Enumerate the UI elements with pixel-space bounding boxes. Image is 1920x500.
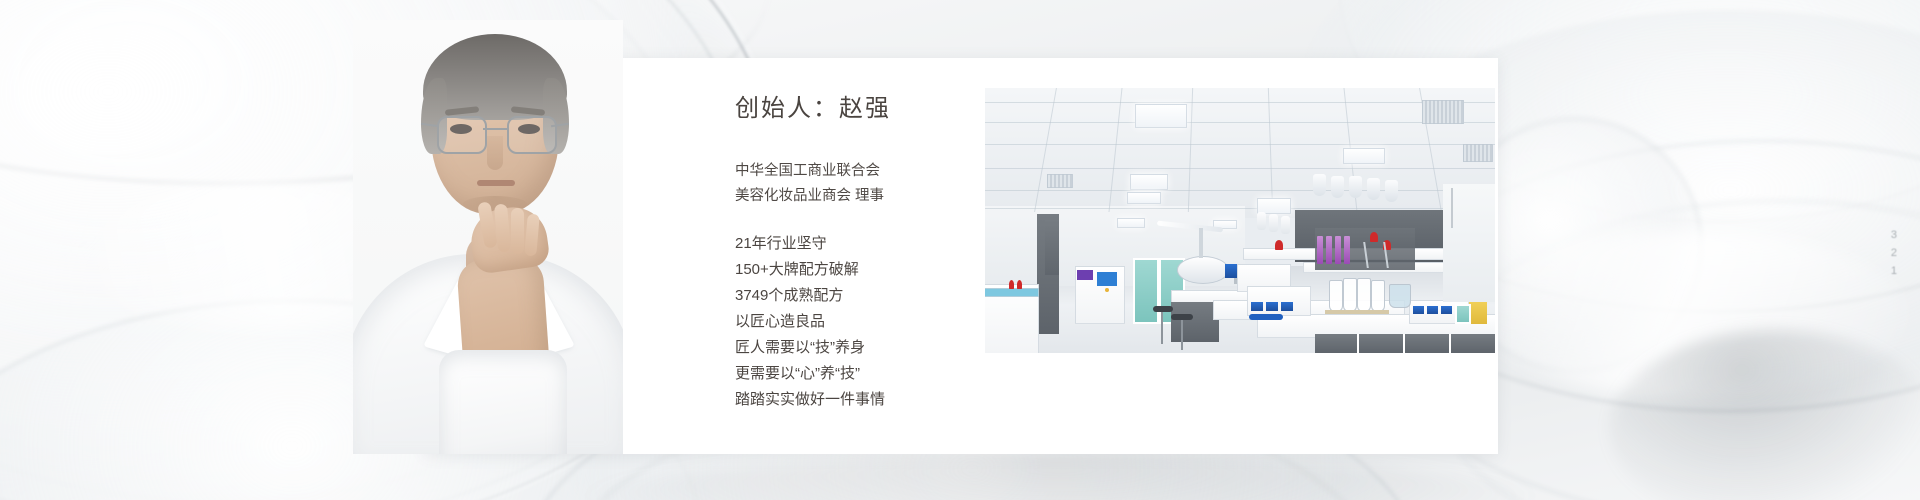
lab-pipette-bulb — [1275, 240, 1283, 250]
lab-test-tube — [1317, 236, 1323, 264]
lab-instrument — [1247, 286, 1311, 316]
lab-ceiling-light — [1343, 148, 1385, 164]
lab-small-container — [1455, 304, 1471, 324]
achievement-line: 3749个成熟配方 — [735, 283, 975, 309]
portrait-finger — [511, 208, 524, 254]
achievement-line: 21年行业坚守 — [735, 231, 975, 257]
lab-stool-leg — [1161, 312, 1163, 344]
founder-text-block: 创始人：赵强 中华全国工商业联合会 美容化妆品业商会 理事 21年行业坚守 15… — [735, 88, 975, 413]
lab-instrument-panel — [1413, 306, 1424, 314]
lab-left-cabinet-top — [985, 288, 1039, 297]
portrait-nose — [487, 136, 503, 170]
achievement-line: 更需要以“心”养“技” — [735, 361, 975, 387]
lab-instrument-panel — [1266, 302, 1278, 311]
lab-inverted-bottle — [1367, 178, 1380, 200]
lab-instrument-panel — [1441, 306, 1452, 314]
portrait-glasses-right-lens — [507, 116, 557, 154]
lab-instrument-panel — [1251, 302, 1263, 311]
lab-reagent-bottle — [1017, 280, 1022, 289]
lab-ceiling-light — [1135, 104, 1187, 128]
lab-wall-cabinet — [1045, 220, 1059, 275]
lab-analyzer-indicator — [1105, 288, 1109, 292]
laboratory-interior-photo — [985, 88, 1495, 353]
founder-title: 创始人：赵强 — [735, 88, 975, 123]
lab-inverted-bottle — [1331, 176, 1344, 198]
organization-line: 中华全国工商业联合会 — [735, 159, 975, 184]
portrait-glasses-bridge — [483, 128, 507, 130]
lab-test-tube — [1344, 236, 1350, 264]
lab-rack-base — [1325, 310, 1389, 314]
lab-supply-box — [1469, 300, 1487, 324]
lab-ceiling-light — [1127, 192, 1161, 204]
lab-overhead-lamp — [1177, 256, 1229, 284]
lab-analyzer-screen — [1077, 270, 1093, 280]
lab-analyzer-screen — [1097, 272, 1117, 286]
lab-ceiling-light — [1117, 218, 1145, 228]
lab-instrument-bar — [1249, 314, 1283, 320]
lab-flask — [1357, 278, 1371, 312]
achievement-line: 踏踏实实做好一件事情 — [735, 387, 975, 413]
lab-ceiling-vent — [1047, 174, 1073, 188]
lab-glass-cabinet — [1133, 258, 1159, 324]
lab-instrument-panel — [1427, 306, 1438, 314]
portrait-sleeve — [439, 350, 567, 454]
lab-pipette-stand — [1363, 242, 1389, 268]
lab-shelf-bottle — [1281, 216, 1290, 234]
lab-lamp-column — [1199, 228, 1203, 258]
lab-bench-base — [1171, 302, 1219, 342]
lab-shelf-bottle — [1269, 214, 1278, 232]
lab-inverted-bottle — [1385, 180, 1398, 202]
achievement-line: 以匠心造良品 — [735, 309, 975, 335]
lab-flask — [1343, 278, 1357, 312]
lab-reagent-bottle — [1009, 280, 1014, 289]
ruler-ticks: 321 — [1891, 226, 1898, 280]
lab-pipette-bulb — [1370, 232, 1378, 242]
lab-ceiling-vent — [1463, 144, 1493, 162]
lab-test-tube — [1326, 236, 1332, 264]
lab-flask — [1329, 280, 1343, 312]
banner-root: 321 — [0, 0, 1920, 500]
lab-ceiling — [985, 88, 1495, 218]
portrait-glasses-left-lens — [437, 116, 487, 154]
lab-ceiling-vent — [1422, 100, 1464, 124]
lab-instrument-panel — [1281, 302, 1293, 311]
lab-shelf-bottle — [1257, 212, 1266, 230]
lab-bench-drawers — [1315, 334, 1495, 353]
lab-stool-seat — [1153, 306, 1173, 312]
lab-beaker — [1389, 284, 1411, 308]
lab-inverted-bottle — [1349, 176, 1362, 198]
lab-test-tube — [1335, 236, 1341, 264]
achievement-line: 150+大牌配方破解 — [735, 257, 975, 283]
lab-flask — [1371, 280, 1385, 312]
lab-stool-leg — [1181, 320, 1183, 350]
achievement-line: 匠人需要以“技”养身 — [735, 335, 975, 361]
text-spacer — [735, 209, 975, 231]
portrait-mouth — [477, 180, 515, 186]
founder-portrait — [353, 20, 623, 454]
organization-line: 美容化妆品业商会 理事 — [735, 184, 975, 209]
lab-inverted-bottle — [1313, 174, 1326, 196]
lab-ceiling-light — [1130, 174, 1168, 190]
